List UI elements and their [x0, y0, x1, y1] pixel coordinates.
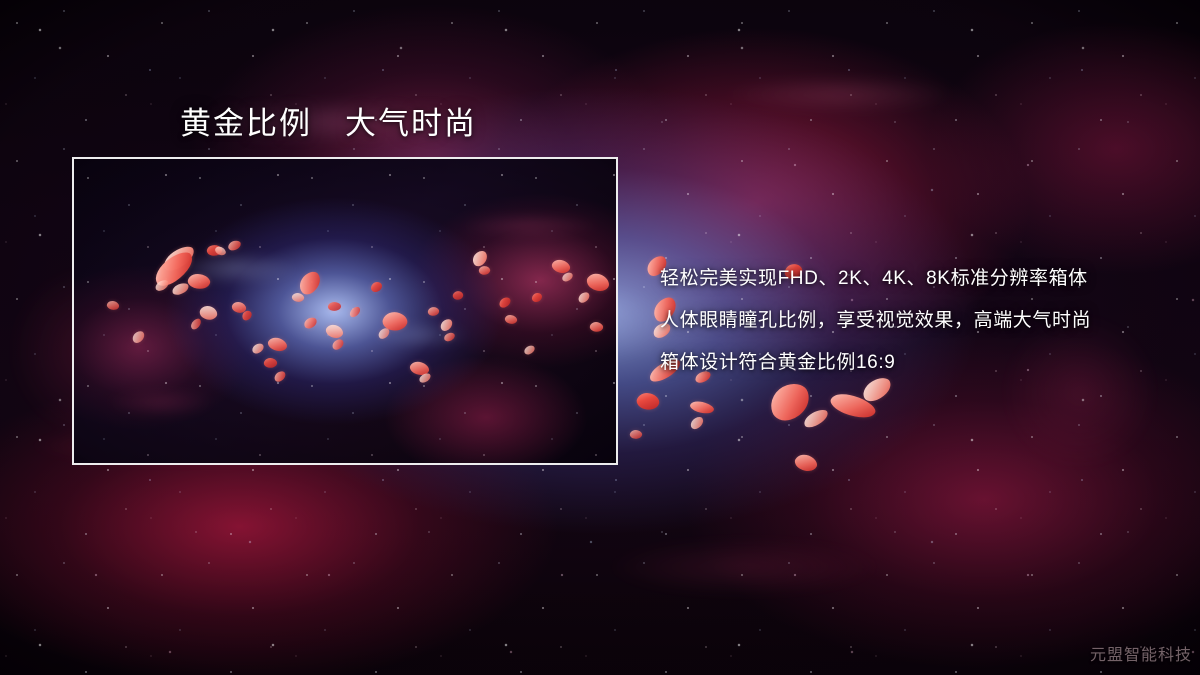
- golden-ratio-display-frame: [72, 157, 618, 465]
- petal: [689, 399, 715, 417]
- petal: [792, 451, 819, 476]
- petal: [629, 429, 643, 441]
- petal: [634, 389, 661, 413]
- page-title: 黄金比例 大气时尚: [180, 98, 477, 143]
- petal: [801, 407, 830, 429]
- feature-description: 轻松完美实现FHD、2K、4K、8K标准分辨率箱体 人体眼睛瞳孔比例，享受视觉效…: [660, 258, 1180, 384]
- brand-watermark: 元盟智能科技: [1090, 641, 1192, 665]
- petal: [688, 415, 705, 431]
- description-line-3: 箱体设计符合黄金比例16:9: [660, 342, 1180, 384]
- panel-starfield: [74, 159, 616, 463]
- petal: [766, 380, 815, 425]
- description-line-2: 人体眼睛瞳孔比例，享受视觉效果，高端大气时尚: [660, 300, 1180, 342]
- petal: [828, 388, 878, 424]
- description-line-1: 轻松完美实现FHD、2K、4K、8K标准分辨率箱体: [660, 258, 1180, 300]
- slide-canvas: 黄金比例 大气时尚 轻松完美实现FHD、2K、4K、8K标准分辨率箱体 人体眼睛…: [0, 0, 1200, 675]
